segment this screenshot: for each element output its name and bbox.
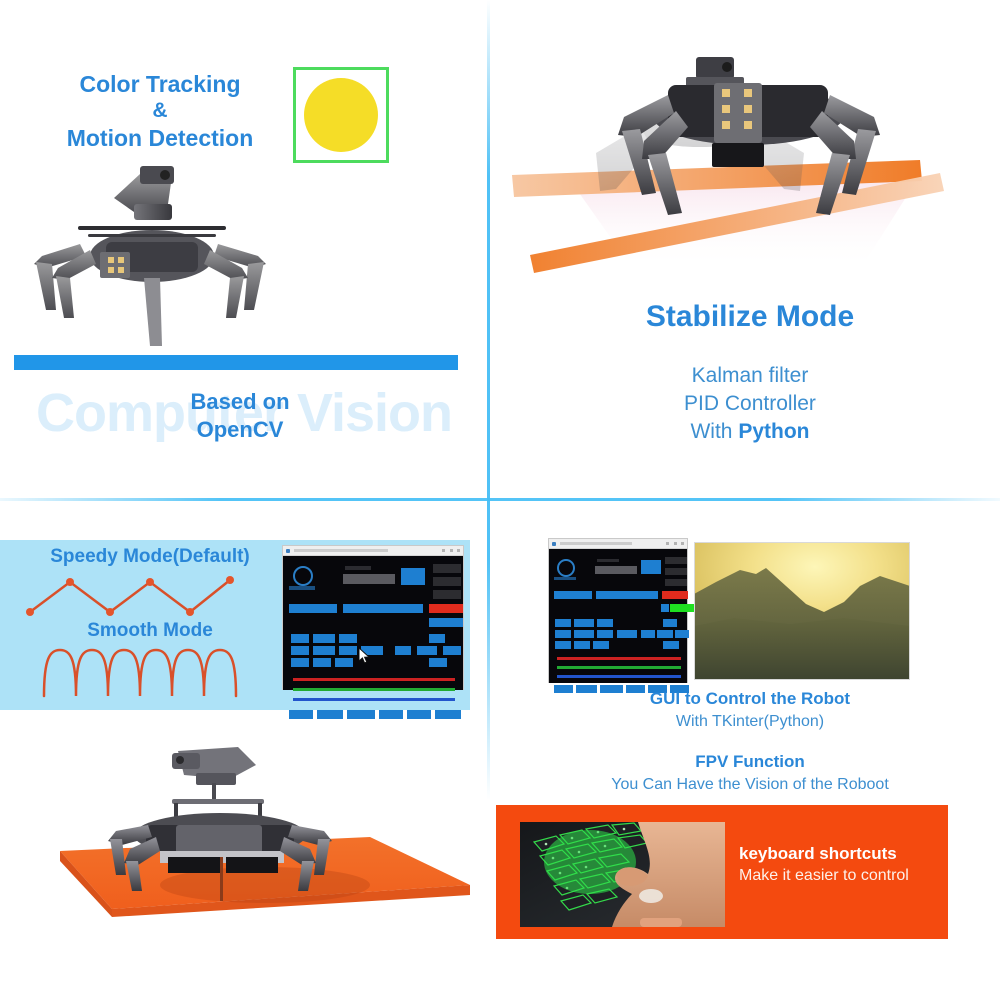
gui-title-text-right xyxy=(560,542,632,545)
gui-ip-label-right xyxy=(597,559,619,562)
gui-dir-right-right[interactable] xyxy=(597,630,613,638)
gui-cam-up-right[interactable] xyxy=(663,619,677,627)
gui-watchdog-button[interactable] xyxy=(347,710,375,719)
yellow-ball-icon xyxy=(304,78,378,152)
gui-steady-button-right[interactable] xyxy=(554,591,592,599)
gui-recording-button-right[interactable] xyxy=(662,591,688,599)
gui-dir-forward[interactable] xyxy=(313,634,335,643)
gui-dir-up-left-right[interactable] xyxy=(555,619,571,627)
gui-turn-right-right[interactable] xyxy=(593,641,609,649)
subtitle-with-prefix: With xyxy=(690,420,738,443)
gui-brand-text xyxy=(289,586,315,590)
gui-cpu-temp-button[interactable] xyxy=(433,564,461,573)
gui-cpu-usage-button-right[interactable] xyxy=(665,568,687,575)
gui-caption-title: GUI to Control the Robot xyxy=(540,688,960,711)
gui-title-text xyxy=(294,549,388,552)
gui-brand-text-right xyxy=(554,577,576,580)
gui-close-icon-right[interactable] xyxy=(681,542,684,545)
gui-dir-forward-right[interactable] xyxy=(574,619,594,627)
gui-connect-button[interactable] xyxy=(401,568,425,585)
subtitle-python-bold: Python xyxy=(738,420,809,443)
subtitle-kalman-filter: Kalman filter xyxy=(505,362,995,390)
fpv-caption-title: FPV Function xyxy=(540,750,960,774)
subtitle-with-python: With Python xyxy=(505,418,995,446)
gui-cam-up[interactable] xyxy=(429,634,445,643)
gui-turn-center[interactable] xyxy=(313,658,331,667)
gui-cpu-temp-button-right[interactable] xyxy=(665,557,687,564)
gui-cam-left-right[interactable] xyxy=(641,630,655,638)
subtitle-pid-controller: PID Controller xyxy=(505,390,995,418)
gui-dir-backward-right[interactable] xyxy=(574,630,594,638)
gui-progress-label xyxy=(661,604,669,612)
gui-cam-left[interactable] xyxy=(395,646,411,655)
stabilize-mode-title: Stabilize Mode xyxy=(505,300,995,334)
gui-ip-input-right[interactable] xyxy=(595,566,637,574)
based-on-opencv-caption: Based on OpenCV xyxy=(130,388,350,443)
gui-caption: GUI to Control the Robot With TKinter(Py… xyxy=(540,688,960,733)
title-line-color-tracking: Color Tracking xyxy=(20,70,300,98)
gui-ip-label xyxy=(345,566,371,570)
gui-speed-servo-button[interactable] xyxy=(343,604,423,613)
gui-cam-home[interactable] xyxy=(417,646,437,655)
speedy-mode-label: Speedy Mode(Default) xyxy=(30,546,270,568)
gui-close-icon[interactable] xyxy=(457,549,460,552)
hexapod-robot-image xyxy=(22,160,282,350)
gui-slider-red-right[interactable] xyxy=(557,657,681,660)
gui-cam-right-right[interactable] xyxy=(675,630,689,638)
gui-steady-button[interactable] xyxy=(289,604,337,613)
gui-cpu-usage-button[interactable] xyxy=(433,577,461,586)
gui-cam-right[interactable] xyxy=(443,646,461,655)
gui-switch2-button[interactable] xyxy=(407,710,431,719)
smooth-mode-label: Smooth Mode xyxy=(60,620,240,642)
gui-maximize-icon[interactable] xyxy=(450,549,453,552)
gui-ram-usage-button-right[interactable] xyxy=(665,579,687,586)
keyboard-shortcuts-subtitle: Make it easier to control xyxy=(739,865,939,887)
caption-based-on: Based on xyxy=(130,388,350,416)
gui-body-right xyxy=(549,549,687,683)
smooth-mode-wave-waveform xyxy=(40,642,255,700)
gui-turn-right[interactable] xyxy=(335,658,353,667)
gui-cam-down-right[interactable] xyxy=(663,641,679,649)
gui-screenshot-left[interactable] xyxy=(282,545,464,690)
speedy-mode-zigzag-waveform xyxy=(22,572,262,620)
title-ampersand: & xyxy=(20,98,300,124)
gui-turn-center-right[interactable] xyxy=(574,641,590,649)
gui-cam-down[interactable] xyxy=(429,658,447,667)
fpv-caption-sub: You Can Have the Vision of the Roboot xyxy=(540,774,960,796)
poster-canvas: Color Tracking & Motion Detection xyxy=(0,0,1000,1000)
gui-minimize-icon-right[interactable] xyxy=(666,542,669,545)
gui-titlebar xyxy=(283,546,463,556)
gui-ram-usage-button[interactable] xyxy=(433,590,461,599)
gui-body xyxy=(283,556,463,690)
gui-logo-icon-right xyxy=(557,559,575,577)
keyboard-shortcuts-text: keyboard shortcuts Make it easier to con… xyxy=(739,843,939,887)
gui-dir-right[interactable] xyxy=(339,646,357,655)
gui-cam-home-right[interactable] xyxy=(657,630,673,638)
gui-dir-left-right[interactable] xyxy=(555,630,571,638)
gui-switch3-button[interactable] xyxy=(435,710,461,719)
gui-ip-input[interactable] xyxy=(343,574,395,584)
gui-turn-left-right[interactable] xyxy=(555,641,571,649)
gui-slider-green[interactable] xyxy=(293,688,455,691)
gui-logo-icon xyxy=(293,566,313,586)
keyboard-shortcuts-title: keyboard shortcuts xyxy=(739,843,939,865)
gui-dir-up-left[interactable] xyxy=(291,634,309,643)
gui-app-icon-right xyxy=(552,542,556,546)
keyboard-photo xyxy=(520,822,725,927)
horizontal-divider xyxy=(0,498,1000,501)
gui-speed-servo-button-right[interactable] xyxy=(596,591,658,599)
fpv-caption: FPV Function You Can Have the Vision of … xyxy=(540,750,960,796)
gui-titlebar-right xyxy=(549,539,687,549)
gui-maximize-icon-right[interactable] xyxy=(674,542,677,545)
color-tracking-bounding-box xyxy=(293,67,389,163)
caption-opencv: OpenCV xyxy=(130,416,350,444)
gui-dir-backward[interactable] xyxy=(313,646,335,655)
gui-minimize-icon[interactable] xyxy=(442,549,445,552)
gui-slider-red[interactable] xyxy=(293,678,455,681)
mouse-cursor-icon xyxy=(359,648,371,664)
gui-slider-blue-right[interactable] xyxy=(557,675,681,678)
hexapod-on-platform-image xyxy=(60,745,470,935)
gui-dir-up-right-right[interactable] xyxy=(597,619,613,627)
keyboard-shortcuts-panel: keyboard shortcuts Make it easier to con… xyxy=(496,805,948,939)
fpv-camera-view-image xyxy=(694,542,910,680)
gui-findline-button[interactable] xyxy=(317,710,343,719)
blue-accent-bar xyxy=(14,355,458,370)
gui-dir-left[interactable] xyxy=(291,646,309,655)
gui-slider-green-right[interactable] xyxy=(557,666,681,669)
gui-dir-up-right[interactable] xyxy=(339,634,357,643)
gui-app-icon xyxy=(286,549,290,553)
gui-recording-button[interactable] xyxy=(429,604,463,613)
gui-screenshot-right[interactable] xyxy=(548,538,688,683)
color-tracking-title: Color Tracking & Motion Detection xyxy=(20,70,300,152)
gui-turn-left[interactable] xyxy=(291,658,309,667)
stabilize-mode-subtitle: Kalman filter PID Controller With Python xyxy=(505,362,995,446)
gui-switch1-button[interactable] xyxy=(379,710,403,719)
gui-sharp-ir-button[interactable] xyxy=(429,618,463,627)
gui-slider-blue[interactable] xyxy=(293,698,455,701)
gui-mode-button[interactable] xyxy=(289,710,313,719)
gui-dir-center-right[interactable] xyxy=(617,630,637,638)
gui-connect-button-right[interactable] xyxy=(641,560,661,574)
gui-caption-sub: With TKinter(Python) xyxy=(540,711,960,733)
title-line-motion-detection: Motion Detection xyxy=(20,124,300,152)
stabilize-mode-image xyxy=(500,55,1000,295)
